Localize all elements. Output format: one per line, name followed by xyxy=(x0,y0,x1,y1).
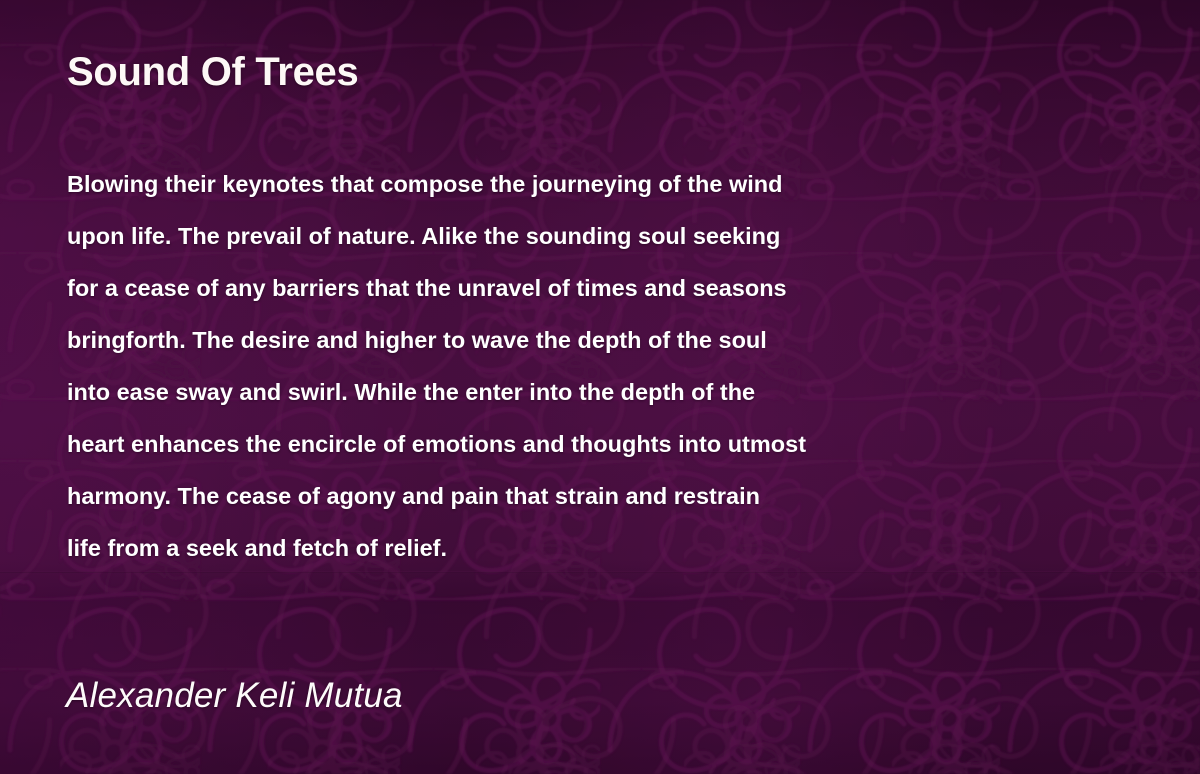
poem-body: Blowing their keynotes that compose the … xyxy=(67,158,1127,574)
poem-content: Sound Of Trees Blowing their keynotes th… xyxy=(0,0,1200,774)
poem-card: Sound Of Trees Blowing their keynotes th… xyxy=(0,0,1200,774)
poem-line: harmony. The cease of agony and pain tha… xyxy=(67,470,1127,522)
poem-line: into ease sway and swirl. While the ente… xyxy=(67,366,1127,418)
poem-line: for a cease of any barriers that the unr… xyxy=(67,262,1127,314)
page-title: Sound Of Trees xyxy=(67,50,358,95)
poem-author: Alexander Keli Mutua xyxy=(66,676,403,716)
poem-line: Blowing their keynotes that compose the … xyxy=(67,158,1127,210)
poem-line: bringforth. The desire and higher to wav… xyxy=(67,314,1127,366)
poem-line: life from a seek and fetch of relief. xyxy=(67,522,1127,574)
poem-line: heart enhances the encircle of emotions … xyxy=(67,418,1127,470)
poem-line: upon life. The prevail of nature. Alike … xyxy=(67,210,1127,262)
